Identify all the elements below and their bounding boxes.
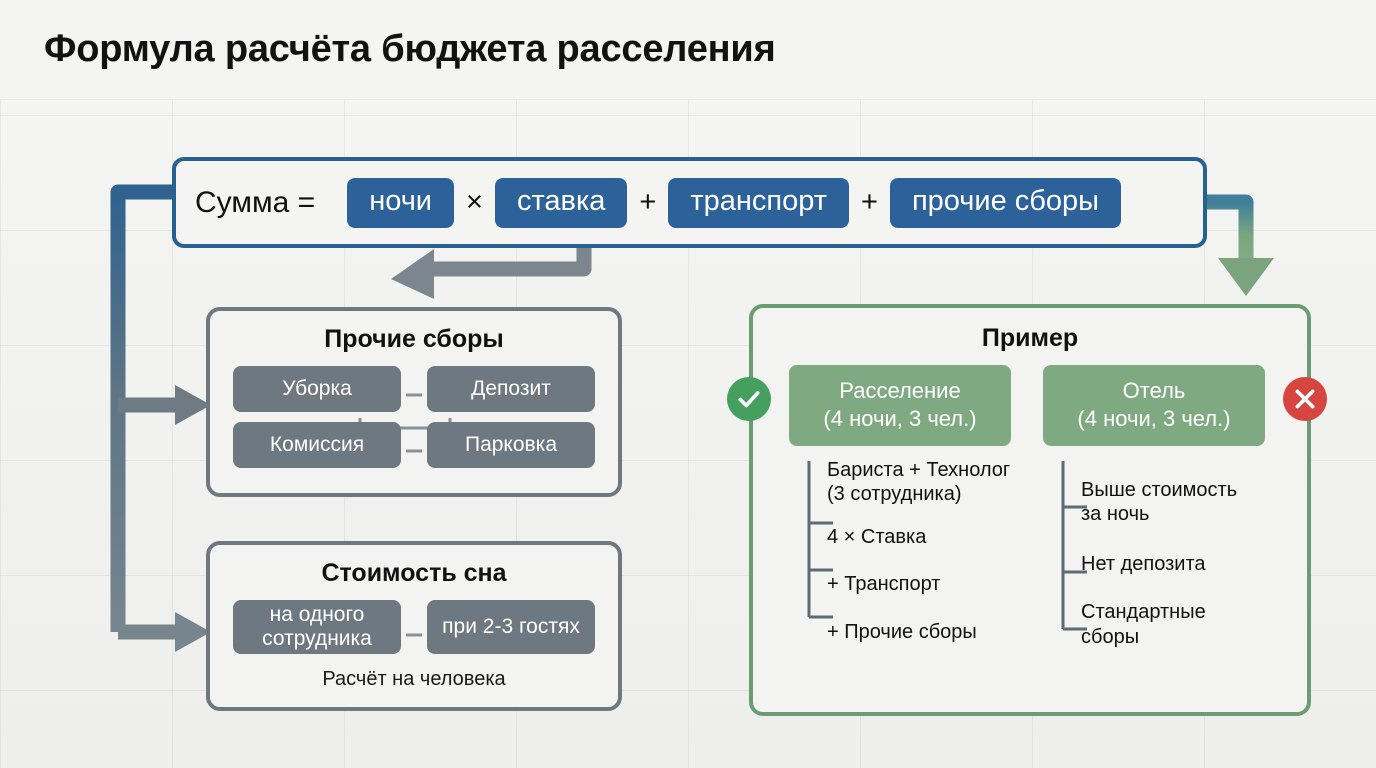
formula-operator-plus-1: + bbox=[627, 186, 668, 219]
close-icon bbox=[1292, 386, 1318, 412]
example-column-relocation: Расселение (4 ночи, 3 чел.) Бариста + Те… bbox=[789, 365, 1011, 649]
chip-commission[interactable]: Комиссия bbox=[233, 422, 401, 468]
formula-operator-multiply: × bbox=[454, 186, 495, 219]
example-item-rate: 4 × Ставка bbox=[827, 525, 1011, 549]
example-item-standard-fees: Стандартные сборы bbox=[1081, 600, 1265, 649]
example-item-other-fees: + Прочие сборы bbox=[827, 620, 1011, 644]
example-panel: Пример Расселение (4 ночи, 3 чел.) Барис… bbox=[749, 304, 1311, 716]
example-head-relocation[interactable]: Расселение (4 ночи, 3 чел.) bbox=[789, 365, 1011, 446]
example-item-no-deposit: Нет депозита bbox=[1081, 552, 1265, 576]
formula-spacer bbox=[315, 186, 347, 219]
card-other-fees-title: Прочие сборы bbox=[210, 325, 618, 354]
cross-badge bbox=[1283, 377, 1327, 421]
check-badge bbox=[727, 377, 771, 421]
example-head-hotel-line2: (4 ночи, 3 чел.) bbox=[1049, 405, 1259, 433]
chip-deposit[interactable]: Депозит bbox=[427, 366, 595, 412]
card-sleep-cost-title: Стоимость сна bbox=[210, 559, 618, 588]
chip-cleaning[interactable]: Уборка bbox=[233, 366, 401, 412]
formula-operator-plus-2: + bbox=[849, 186, 890, 219]
example-item-staff: Бариста + Технолог (3 сотрудника) bbox=[827, 458, 1011, 507]
page-title: Формула расчёта бюджета расселения bbox=[44, 28, 776, 71]
example-head-hotel-line1: Отель bbox=[1049, 377, 1259, 405]
example-head-relocation-line2: (4 ночи, 3 чел.) bbox=[795, 405, 1005, 433]
card-other-fees: Прочие сборы Уборка Депозит Комиссия Пар… bbox=[206, 307, 622, 497]
example-head-relocation-line1: Расселение bbox=[795, 377, 1005, 405]
card-sleep-cost: Стоимость сна на одного сотрудника при 2… bbox=[206, 541, 622, 711]
chip-parking[interactable]: Парковка bbox=[427, 422, 595, 468]
formula-bar: Сумма = ночи × ставка + транспорт + проч… bbox=[172, 157, 1207, 248]
formula-term-transport[interactable]: транспорт bbox=[668, 178, 849, 228]
example-column-hotel: Отель (4 ночи, 3 чел.) Выше стоимость за… bbox=[1043, 365, 1265, 649]
card-sleep-cost-footnote: Расчёт на человека bbox=[210, 668, 618, 691]
formula-term-nights[interactable]: ночи bbox=[347, 178, 454, 228]
example-panel-title: Пример bbox=[753, 324, 1307, 353]
example-item-higher-cost: Выше стоимость за ночь bbox=[1081, 478, 1265, 527]
chip-two-three-guests[interactable]: при 2-3 гостях bbox=[427, 600, 595, 654]
check-icon bbox=[736, 386, 762, 412]
formula-term-other-fees[interactable]: прочие сборы bbox=[890, 178, 1121, 228]
formula-lhs: Сумма = bbox=[195, 186, 315, 220]
formula-term-rate[interactable]: ставка bbox=[495, 178, 627, 228]
chip-per-employee[interactable]: на одного сотрудника bbox=[233, 600, 401, 654]
example-item-transport: + Транспорт bbox=[827, 572, 1011, 596]
example-head-hotel[interactable]: Отель (4 ночи, 3 чел.) bbox=[1043, 365, 1265, 446]
